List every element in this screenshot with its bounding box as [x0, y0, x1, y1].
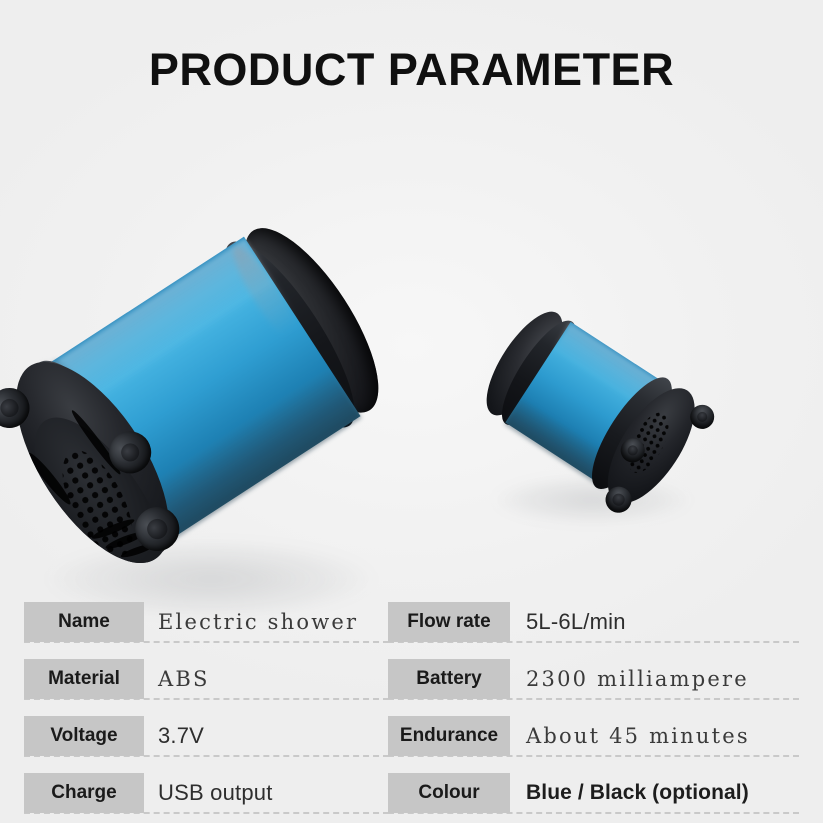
spec-label-voltage: Voltage	[24, 716, 144, 756]
product-parameter-page: PRODUCT PARAMETER	[0, 0, 823, 823]
spec-label-endurance: Endurance	[388, 716, 510, 756]
spec-cell-colour: Colour Blue / Black (optional)	[388, 773, 799, 813]
spec-cell-endurance: Endurance About 45 minutes	[388, 716, 799, 756]
spec-cell-name: Name Electric shower	[24, 602, 389, 642]
spec-label-name: Name	[24, 602, 144, 642]
spec-value-charge: USB output	[158, 773, 273, 813]
spec-label-flow-rate: Flow rate	[388, 602, 510, 642]
spec-label-material: Material	[24, 659, 144, 699]
spec-cell-voltage: Voltage 3.7V	[24, 716, 389, 756]
spec-cell-material: Material ABS	[24, 659, 389, 699]
spec-cell-charge: Charge USB output	[24, 773, 389, 813]
spec-value-voltage: 3.7V	[158, 716, 204, 756]
spec-value-name: Electric shower	[158, 602, 358, 642]
product-image-stage	[0, 120, 823, 590]
spec-value-battery: 2300 milliampere	[526, 659, 749, 699]
spec-value-material: ABS	[158, 659, 210, 699]
table-row: Name Electric shower Flow rate 5L-6L/min	[0, 602, 823, 642]
spec-value-endurance: About 45 minutes	[526, 716, 750, 756]
spec-cell-flow-rate: Flow rate 5L-6L/min	[388, 602, 799, 642]
spec-cell-battery: Battery 2300 milliampere	[388, 659, 799, 699]
table-row: Material ABS Battery 2300 milliampere	[0, 659, 823, 699]
electric-shower-large-view	[0, 168, 429, 616]
spec-table: Name Electric shower Flow rate 5L-6L/min…	[0, 602, 823, 818]
spec-value-flow-rate: 5L-6L/min	[526, 602, 626, 642]
table-row: Charge USB output Colour Blue / Black (o…	[0, 773, 823, 813]
spec-label-colour: Colour	[388, 773, 510, 813]
spec-label-charge: Charge	[24, 773, 144, 813]
table-row: Voltage 3.7V Endurance About 45 minutes	[0, 716, 823, 756]
spec-label-battery: Battery	[388, 659, 510, 699]
spec-value-colour: Blue / Black (optional)	[526, 773, 749, 813]
page-title: PRODUCT PARAMETER	[0, 44, 823, 96]
